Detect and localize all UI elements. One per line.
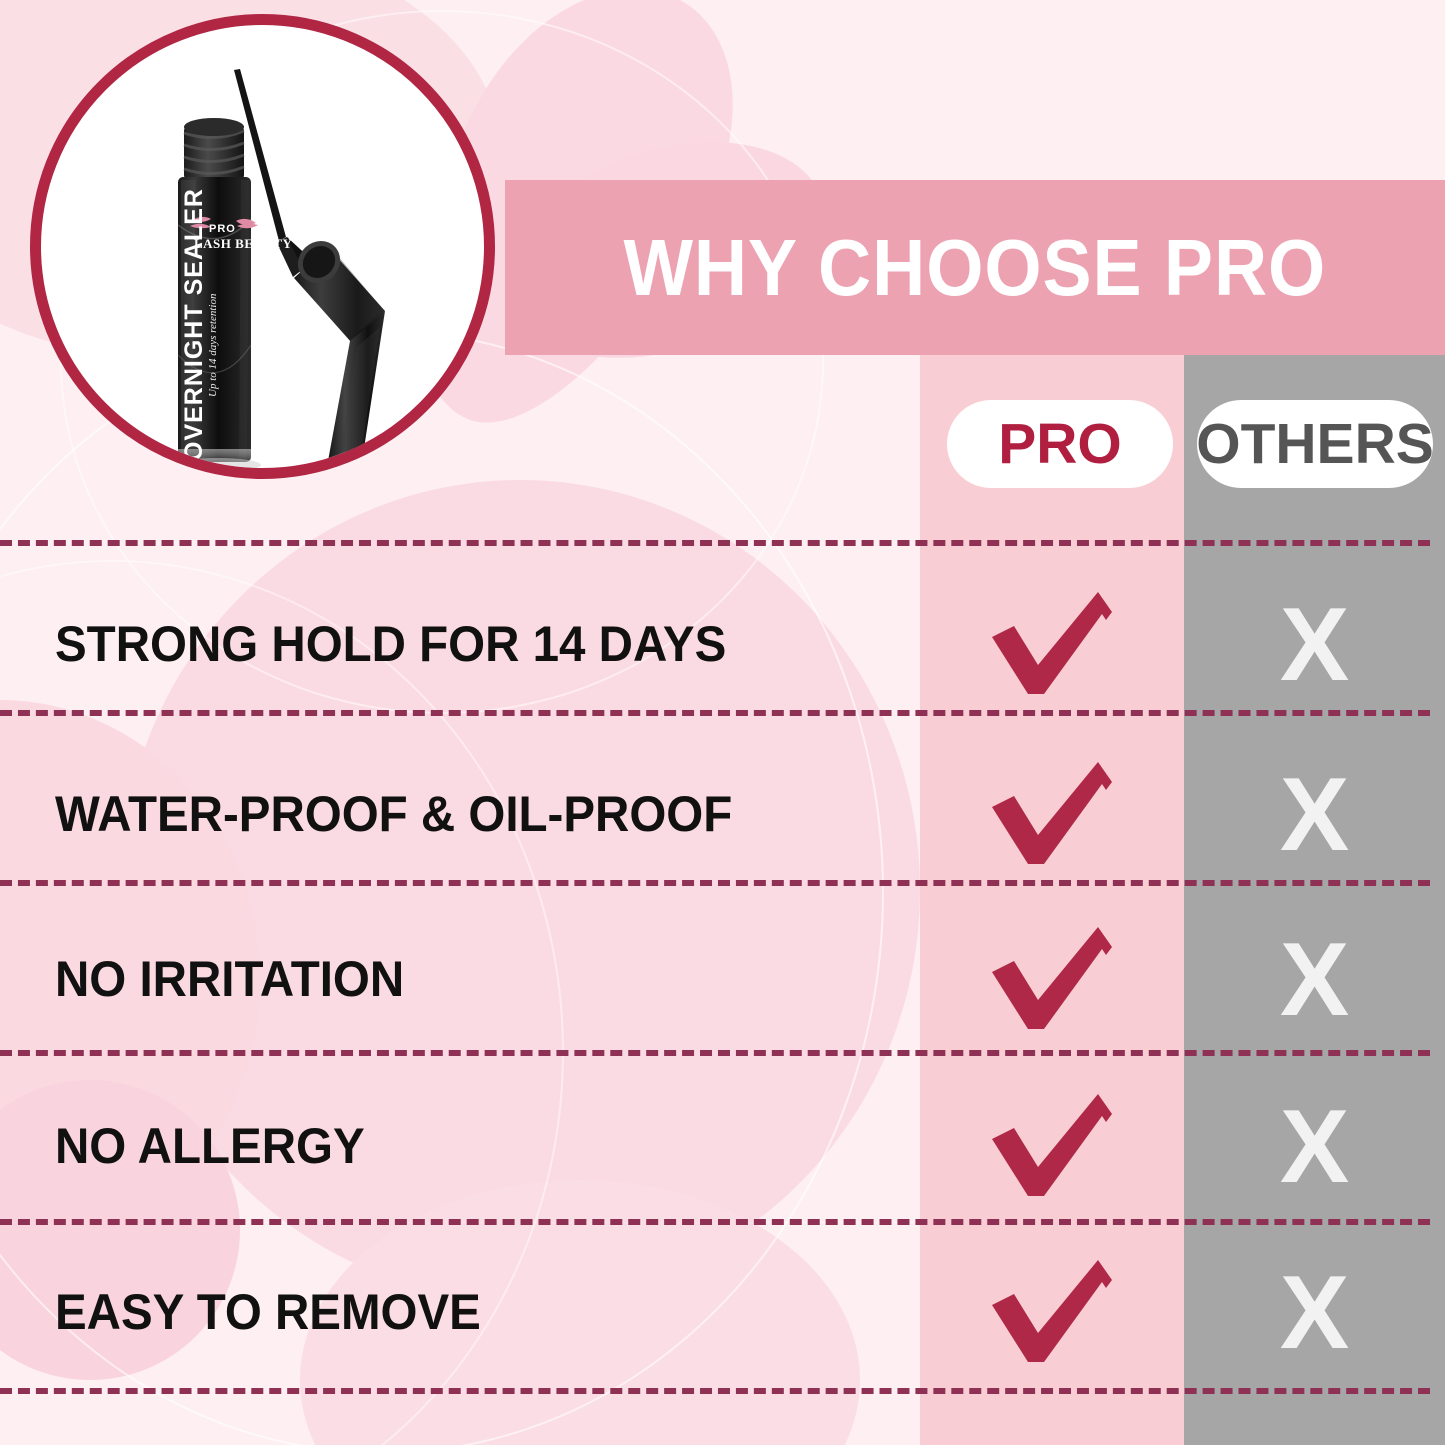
product-name-label: OVERNIGHT SEALER — [180, 188, 209, 461]
product-brand-line1: PRO — [209, 223, 236, 235]
x-mark-glyph: X — [1280, 928, 1349, 1032]
pro-check-icon — [920, 585, 1184, 705]
others-x-icon: X — [1184, 1087, 1445, 1207]
feature-label: WATER-PROOF & OIL-PROOF — [55, 785, 732, 843]
column-header-pro: PRO — [947, 400, 1173, 488]
product-tagline: Up to 14 days retention — [207, 294, 219, 397]
pro-check-icon — [920, 755, 1184, 875]
page-title: WHY CHOOSE PRO — [624, 222, 1327, 314]
row-divider — [0, 1050, 1430, 1056]
column-header-others-label: OTHERS — [1196, 411, 1434, 477]
row-divider — [0, 1219, 1430, 1225]
others-x-icon: X — [1184, 585, 1445, 705]
product-image-circle: PRO LASH BEAUTY OVERNIGHT SEALER Up to 1… — [30, 14, 495, 479]
x-mark-glyph: X — [1280, 593, 1349, 697]
pro-check-icon — [920, 1087, 1184, 1207]
column-header-pro-label: PRO — [998, 411, 1122, 477]
feature-label: NO ALLERGY — [55, 1117, 365, 1175]
row-divider — [0, 1388, 1430, 1394]
pro-check-icon — [920, 1253, 1184, 1373]
others-x-icon: X — [1184, 920, 1445, 1040]
others-x-icon: X — [1184, 755, 1445, 875]
feature-label: STRONG HOLD FOR 14 DAYS — [55, 615, 726, 673]
row-divider — [0, 880, 1430, 886]
x-mark-glyph: X — [1280, 763, 1349, 867]
column-header-others: OTHERS — [1197, 400, 1433, 488]
feature-label: NO IRRITATION — [55, 950, 404, 1008]
title-banner: WHY CHOOSE PRO — [505, 180, 1445, 355]
others-x-icon: X — [1184, 1253, 1445, 1373]
x-mark-glyph: X — [1280, 1261, 1349, 1365]
x-mark-glyph: X — [1280, 1095, 1349, 1199]
feature-label: EASY TO REMOVE — [55, 1283, 481, 1341]
infographic-root: WHY CHOOSE PRO PRO OTHERS STRONG HOLD FO… — [0, 0, 1445, 1445]
row-divider — [0, 710, 1430, 716]
pro-check-icon — [920, 920, 1184, 1040]
row-divider — [0, 540, 1430, 546]
